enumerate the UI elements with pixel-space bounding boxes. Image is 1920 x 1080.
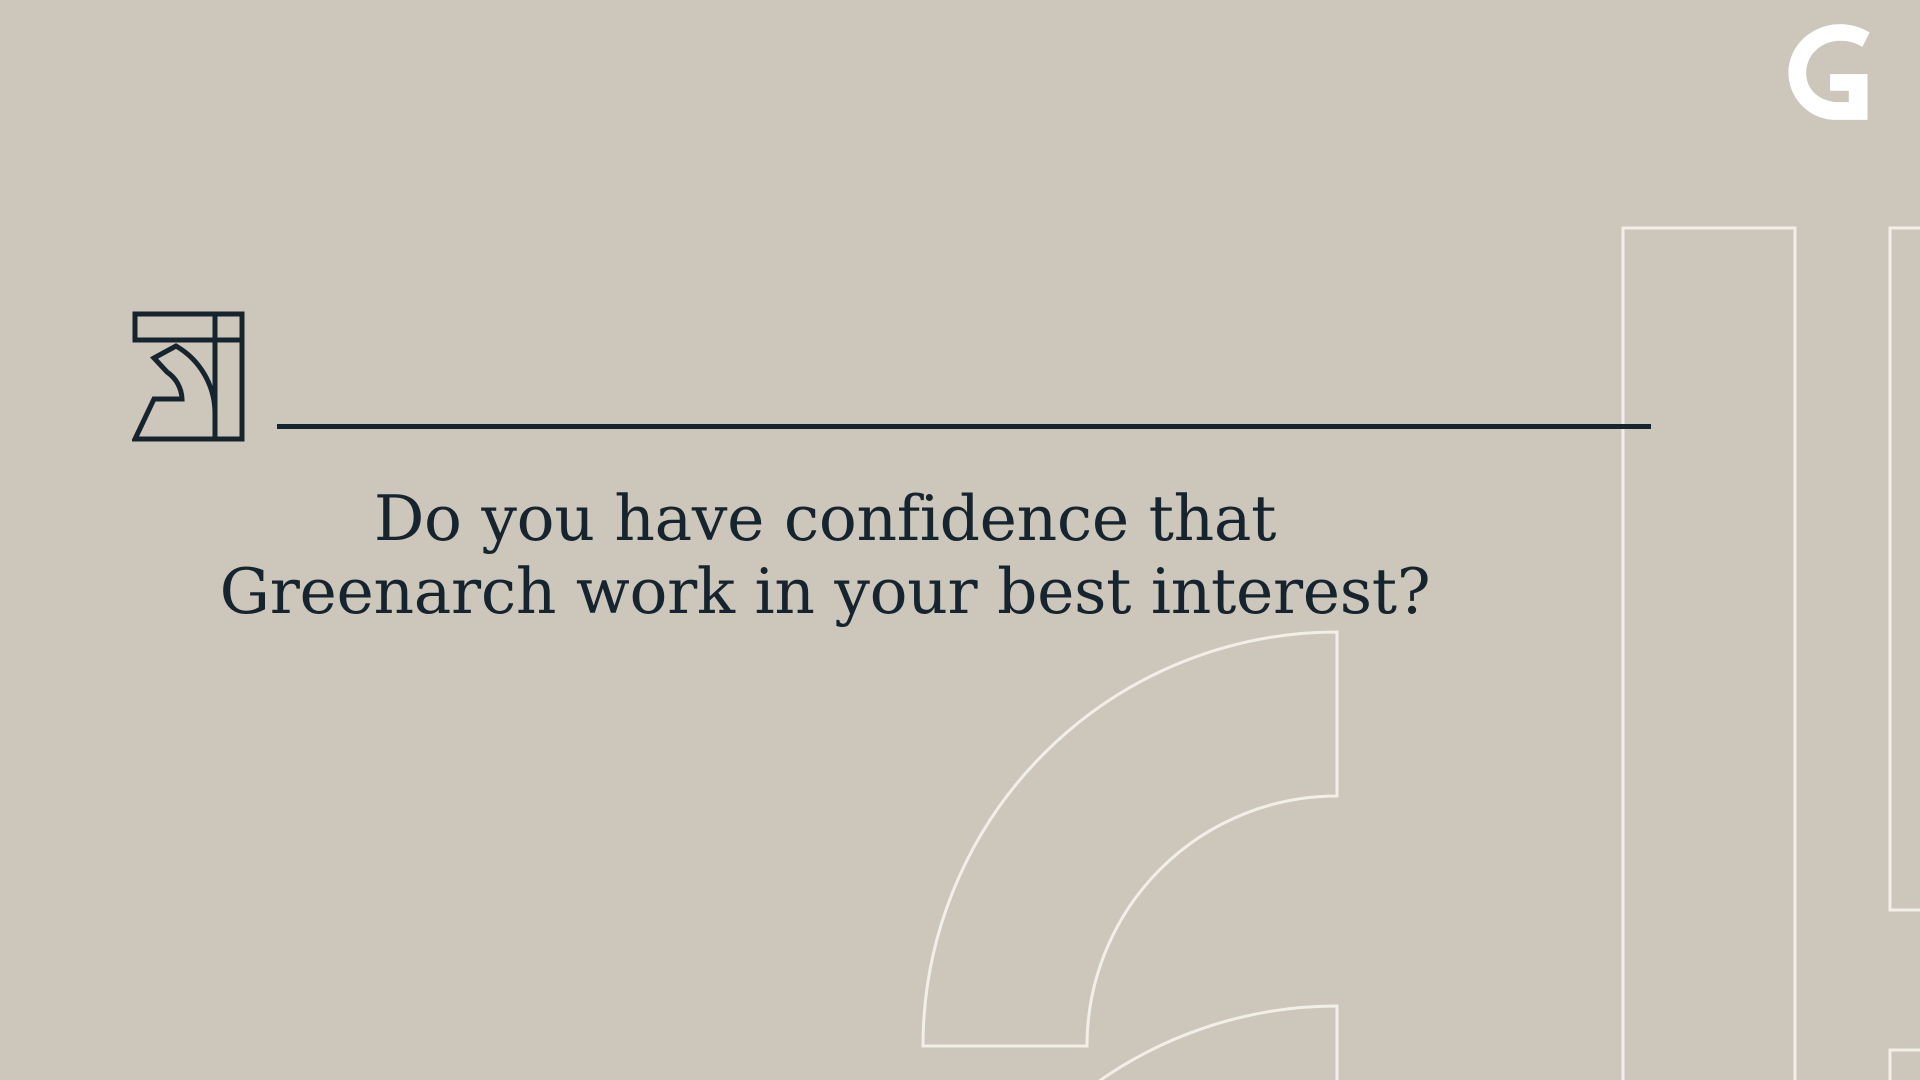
tall-rect-right-shape xyxy=(1890,228,1920,910)
headline-rule xyxy=(277,424,1651,429)
page-title: Do you have confidence that Greenarch wo… xyxy=(0,482,1650,628)
tall-rect-left-shape xyxy=(1623,228,1795,1080)
upper-annular-sector-shape xyxy=(923,632,1337,1046)
architectural-glyph-icon xyxy=(132,298,248,442)
greenarch-g-icon xyxy=(1776,20,1880,124)
tall-rect-right-lower-shape xyxy=(1890,1050,1920,1080)
slide-canvas: Do you have confidence that Greenarch wo… xyxy=(0,0,1920,1080)
lower-annular-sector-shape xyxy=(923,1006,1337,1080)
